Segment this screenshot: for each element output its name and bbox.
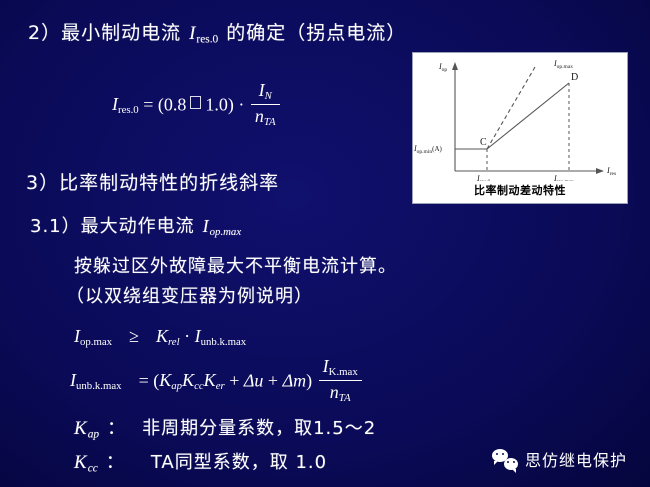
coefficient-colon-kcc: ： xyxy=(106,452,125,473)
formula-1-lhs: Ires.0 xyxy=(112,94,139,114)
watermark: 思仿继电保护 xyxy=(492,447,627,471)
chart-caption: 比率制动差动特性 xyxy=(413,182,627,198)
chart-x-axis-label: Ires xyxy=(606,166,616,177)
coefficient-symbol-kap: Kap xyxy=(74,418,99,439)
coefficient-row-kap: Kap：非周期分量系数，取1.5～2 xyxy=(74,414,376,440)
formula-3-k-cc: Kcc xyxy=(182,370,204,390)
formula-1-equals: = xyxy=(143,94,153,114)
formula-1-fraction: IN nTA xyxy=(251,80,280,128)
heading-item-2-suffix: 的确定（拐点电流） xyxy=(226,22,406,44)
body-line-1: 按躲过区外故障最大不平衡电流计算。 xyxy=(74,252,397,278)
formula-ires0: Ires.0 = (0.81.0) · IN nTA xyxy=(112,82,282,130)
chart-point-label-d: D xyxy=(571,72,578,83)
formula-2-rhs: Iunb.k.max xyxy=(195,326,247,346)
formula-2-lhs: Iop.max xyxy=(74,326,112,346)
heading-item-3-1-symbol: Iop.max xyxy=(203,216,241,236)
heading-item-3-1: 3.1）最大动作电流Iop.max xyxy=(30,212,241,238)
formula-2-relation: ≥ xyxy=(129,326,139,346)
formula-3-equals: = xyxy=(139,370,149,390)
chart-series-steeper-dashed xyxy=(487,67,535,149)
body-line-2: （以双绕组变压器为例说明） xyxy=(66,282,313,308)
chart-label-iopmin: Iop.min(A) xyxy=(413,144,442,155)
formula-3-delta-m: Δm xyxy=(283,370,307,390)
heading-item-2: 2）最小制动电流Ires.0的确定（拐点电流） xyxy=(28,18,406,45)
formula-3-k-ap: Kap xyxy=(159,370,182,390)
chart-x-axis-arrow xyxy=(596,168,604,174)
coefficient-description-kcc: TA同型系数，取 1.0 xyxy=(151,452,327,473)
chart-label-iopmax: Iop.max xyxy=(553,59,573,70)
formula-3-plus-1: + xyxy=(229,370,239,390)
formula-1-dot: · xyxy=(238,94,244,114)
slide-canvas: 2）最小制动电流Ires.0的确定（拐点电流） Ires.0 = (0.81.0… xyxy=(0,0,650,487)
restraint-characteristic-chart: Iop Ires Iop.min(A) Iop.max Ires.0 Ires.… xyxy=(412,52,628,204)
formula-iunbkmax: Iunb.k.max = (KapKccKer + Δu + Δm) IK.ma… xyxy=(70,358,364,406)
heading-item-3: 3）比率制动特性的折线斜率 xyxy=(26,168,279,195)
formula-1-low: 0.8 xyxy=(164,94,187,114)
heading-item-2-symbol: Ires.0 xyxy=(189,23,218,44)
coefficient-colon-kap: ： xyxy=(107,418,126,439)
chart-tick-iresmax: Ires.max xyxy=(553,174,574,181)
formula-1-denominator: nTA xyxy=(251,105,280,129)
heading-item-2-prefix: 2）最小制动电流 xyxy=(28,22,181,44)
chart-y-axis-arrow xyxy=(452,62,458,70)
chart-point-label-c: C xyxy=(480,137,487,148)
formula-1-close-paren: ) xyxy=(228,94,234,114)
formula-3-fraction: IK.max nTA xyxy=(319,356,362,404)
wechat-icon xyxy=(492,448,518,470)
chart-tick-ires0: Ires.0 xyxy=(476,174,490,181)
formula-3-denominator: nTA xyxy=(319,381,362,405)
chart-series-slope-segment xyxy=(487,83,569,149)
formula-3-k-er: Ker xyxy=(204,370,225,390)
coefficient-row-kcc: Kcc：TA同型系数，取 1.0 xyxy=(74,448,327,474)
coefficient-description-kap: 非周期分量系数，取1.5～2 xyxy=(142,418,376,439)
chart-svg: Iop Ires Iop.min(A) Iop.max Ires.0 Ires.… xyxy=(413,53,629,181)
formula-2-dot: · xyxy=(184,326,190,346)
formula-1-numerator: IN xyxy=(251,80,280,105)
formula-3-numerator: IK.max xyxy=(319,356,362,381)
heading-item-3-1-prefix: 3.1）最大动作电流 xyxy=(30,216,195,237)
formula-3-delta-u: Δu xyxy=(244,370,264,390)
coefficient-symbol-kcc: Kcc xyxy=(74,452,98,473)
formula-1-high: 1.0 xyxy=(205,94,228,114)
chart-y-axis-label: Iop xyxy=(438,62,447,73)
formula-1-range-glyph xyxy=(190,96,201,109)
watermark-text: 思仿继电保护 xyxy=(525,447,627,471)
formula-2-k-rel: Krel xyxy=(156,326,180,346)
formula-iopmax: Iop.max ≥ Krel · Iunb.k.max xyxy=(74,326,246,348)
formula-3-close-paren: ) xyxy=(306,370,312,390)
formula-3-lhs: Iunb.k.max xyxy=(70,370,122,390)
formula-3-plus-2: + xyxy=(268,370,278,390)
